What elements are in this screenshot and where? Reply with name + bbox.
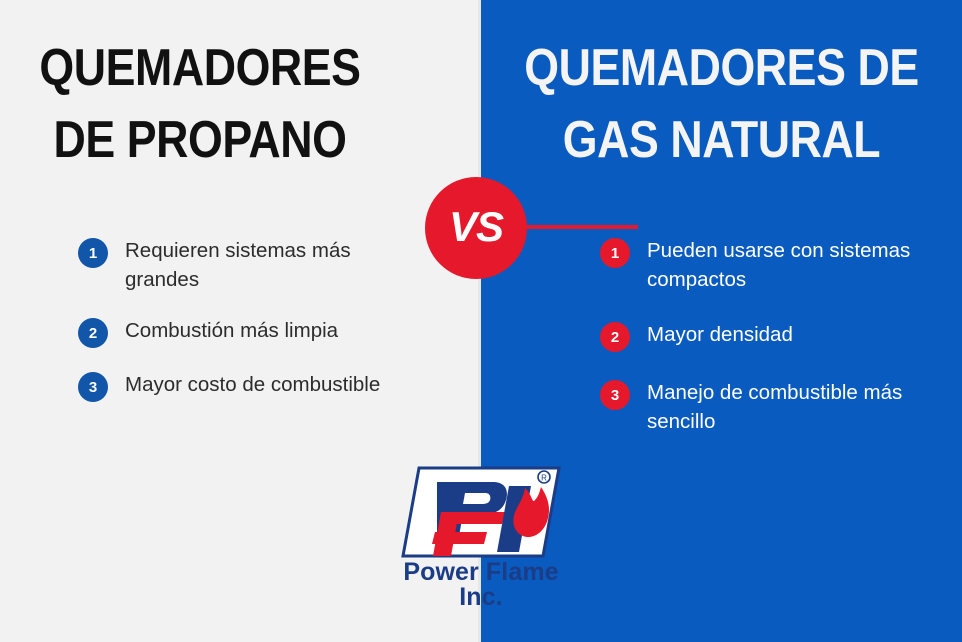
list-item: 3 Manejo de combustible más sencillo	[600, 378, 948, 436]
list-item: 1 Requieren sistemas más grandes	[78, 236, 408, 294]
bullet-text: Combustión más limpia	[125, 316, 338, 345]
right-title-line-1: QUEMADORES DE	[524, 39, 918, 97]
bullet-text: Manejo de combustible más sencillo	[647, 378, 948, 436]
bullet-number-badge: 3	[78, 372, 108, 402]
bullet-text: Mayor densidad	[647, 320, 793, 349]
bullet-number-badge: 2	[600, 322, 630, 352]
right-title-line-2: GAS NATURAL	[515, 104, 929, 176]
company-logo: R Power Flame Inc.	[381, 466, 581, 586]
pfi-logo-icon: R	[401, 466, 561, 558]
bullet-text: Requieren sistemas más grandes	[125, 236, 408, 294]
bullet-text: Pueden usarse con sistemas compactos	[647, 236, 948, 294]
list-item: 2 Combustión más limpia	[78, 316, 408, 348]
bullet-number-badge: 1	[78, 238, 108, 268]
right-feature-list: 1 Pueden usarse con sistemas compactos 2…	[600, 236, 948, 456]
infographic-canvas: QUEMADORES DE PROPANO QUEMADORES DE GAS …	[0, 0, 962, 642]
left-panel-title: QUEMADORES DE PROPANO	[28, 32, 372, 176]
vs-connector-line	[520, 225, 638, 229]
right-panel-title: QUEMADORES DE GAS NATURAL	[515, 32, 929, 176]
bullet-text: Mayor costo de combustible	[125, 370, 380, 399]
list-item: 3 Mayor costo de combustible	[78, 370, 408, 402]
bullet-number-badge: 3	[600, 380, 630, 410]
list-item: 2 Mayor densidad	[600, 320, 948, 352]
svg-text:R: R	[541, 473, 547, 482]
left-feature-list: 1 Requieren sistemas más grandes 2 Combu…	[78, 236, 408, 422]
vs-badge-label: VS	[449, 206, 503, 248]
vs-badge: VS	[425, 177, 527, 279]
bullet-number-badge: 2	[78, 318, 108, 348]
bullet-number-badge: 1	[600, 238, 630, 268]
left-title-line-1: QUEMADORES	[39, 39, 360, 97]
list-item: 1 Pueden usarse con sistemas compactos	[600, 236, 948, 294]
logo-company-name: Power Flame Inc.	[381, 560, 581, 610]
left-title-line-2: DE PROPANO	[28, 104, 372, 176]
